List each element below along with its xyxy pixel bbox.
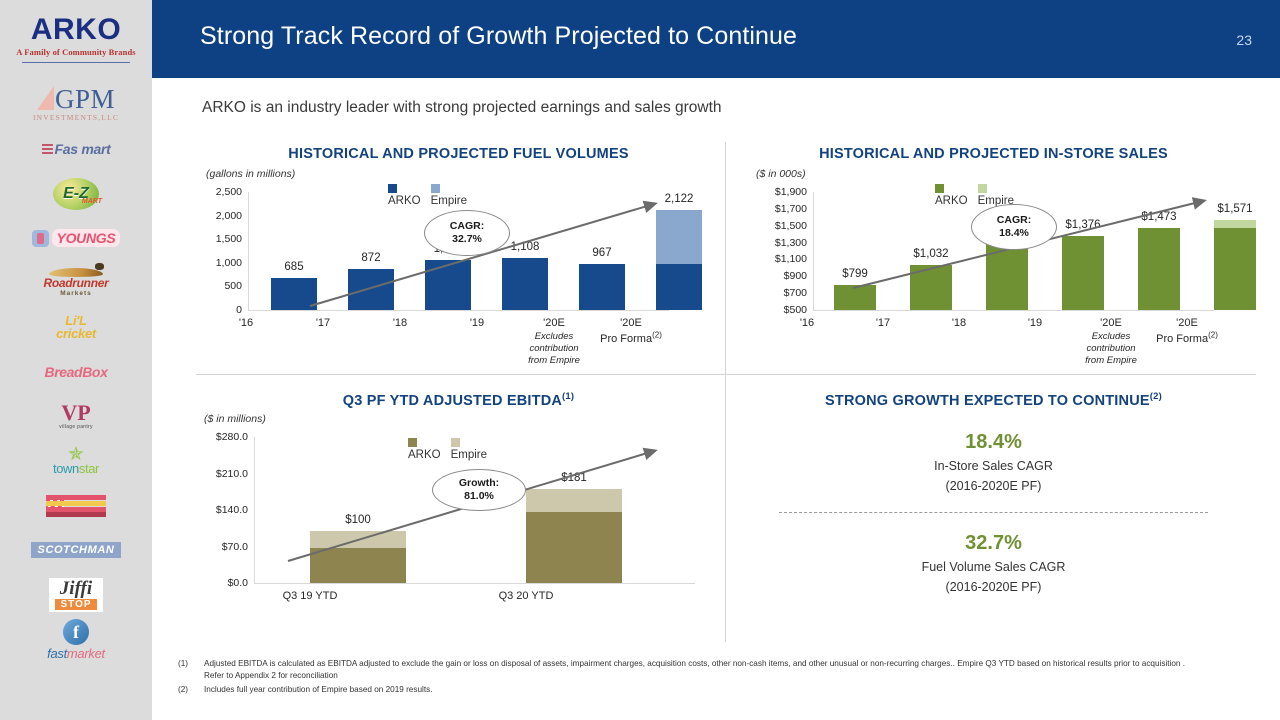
roadrunner-subtext: Markets — [60, 290, 92, 297]
annotation-bubble-fuel-volumes: CAGR:32.7% — [424, 210, 510, 256]
fast-market-wordmark: fast — [47, 646, 67, 661]
page-number: 23 — [1236, 32, 1252, 48]
x-axis-fuel-volumes — [248, 310, 669, 311]
brand-logo-breadbox: BreadBox — [0, 350, 152, 395]
ez-mart-subtext: MART — [82, 198, 102, 205]
chart-title-q3-ebitda-text: Q3 PF YTD ADJUSTED EBITDA — [343, 393, 562, 409]
roadrunner-bird-icon — [49, 268, 103, 277]
bar-value-label: 872 — [361, 252, 380, 264]
bar-fuel-volumes-2 — [425, 260, 471, 310]
annotation-line-1: CAGR: — [997, 214, 1031, 227]
bar-segment-arko — [348, 269, 394, 310]
bar-segment-arko — [425, 260, 471, 310]
growth-stat-period-1: (2016-2020E PF) — [731, 580, 1256, 594]
bar-q3-pf-ytd-adjusted-ebitda-0 — [310, 531, 406, 583]
footnote-number: (2) — [178, 684, 204, 696]
lil-cricket-subtext: cricket — [56, 327, 96, 340]
y-tick-label: 500 — [182, 280, 242, 292]
chart-title-q3-ebitda-sup: (1) — [562, 391, 574, 402]
growth-panel-title: STRONG GROWTH EXPECTED TO CONTINUE(2) — [731, 391, 1256, 409]
brand-logo-dixie-stores — [0, 483, 152, 528]
roadrunner-wordmark: Roadrunner — [43, 276, 108, 290]
fast-market-subtext: market — [67, 646, 105, 661]
brand-logo-gpm: GPM INVESTMENTS,LLC — [0, 82, 152, 127]
y-tick-label: 1,000 — [182, 257, 242, 269]
bar-value-label: $1,032 — [913, 248, 948, 260]
town-star-subtext: star — [79, 461, 99, 476]
annotation-line-1: CAGR: — [450, 220, 484, 233]
fast-market-f-icon: f — [63, 619, 89, 645]
footnote-row: (2) Includes full year contribution of E… — [178, 684, 1198, 696]
bar-segment-empire — [526, 489, 622, 512]
brand-logo-fas-mart: Fas mart — [0, 127, 152, 172]
bar-in-store-sales-3 — [1062, 236, 1104, 310]
plot-fuel-volumes: 2,5002,0001,5001,0005000685'16872'171,05… — [248, 192, 249, 310]
y-tick-label: $1,700 — [747, 203, 807, 215]
breadbox-wordmark: BreadBox — [45, 364, 108, 380]
growth-panel-title-sup: (2) — [1150, 391, 1162, 402]
legend-q3-pf-ytd-adjusted-ebitda: ARKOEmpire — [408, 437, 487, 461]
growth-stat-label-0: In-Store Sales CAGR — [731, 459, 1256, 473]
brand-logo-fast-market: f fastmarket — [0, 617, 152, 662]
bar-value-label: $1,376 — [1065, 219, 1100, 231]
y-tick-label: 2,500 — [182, 186, 242, 198]
jiffi-stop-subtext: STOP — [55, 599, 96, 610]
bar-value-label: $1,571 — [1217, 203, 1252, 215]
brand-logo-youngs: YOUNGS — [0, 216, 152, 261]
legend-in-store-sales: ARKOEmpire — [935, 183, 1014, 207]
annotation-line-2: 18.4% — [999, 227, 1029, 240]
village-pantry-subtext: village pantry — [59, 424, 93, 430]
bar-fuel-volumes-3 — [502, 258, 548, 310]
x-category-label: Q3 20 YTD — [478, 590, 574, 604]
page-title: Strong Track Record of Growth Projected … — [200, 22, 797, 51]
bar-segment-arko — [310, 548, 406, 583]
brand-logo-roadrunner-markets: Roadrunner Markets — [0, 260, 152, 305]
footnotes: (1) Adjusted EBITDA is calculated as EBI… — [178, 658, 1198, 696]
slide-subtitle: ARKO is an industry leader with strong p… — [202, 99, 722, 117]
chart-title-fuel-volumes: HISTORICAL AND PROJECTED FUEL VOLUMES — [196, 146, 721, 162]
bar-in-store-sales-4 — [1138, 228, 1180, 310]
annotation-bubble-q3-pf-ytd-adjusted-ebitda: Growth:81.0% — [432, 469, 526, 511]
y-tick-label: $0.0 — [188, 577, 248, 589]
arko-wordmark: ARKO — [31, 15, 121, 45]
legend-item-empire: Empire — [451, 437, 487, 461]
brand-logo-ez-mart: E-Z MART — [0, 171, 152, 216]
bar-segment-arko — [656, 264, 702, 310]
legend-item-arko: ARKO — [388, 183, 421, 207]
x-category-label: '20EPro Forma(2) — [1139, 317, 1235, 347]
legend-item-arko: ARKO — [408, 437, 441, 461]
axis-note-in-store-sales: ($ in 000s) — [756, 168, 806, 180]
axis-note-q3-ebitda: ($ in millions) — [204, 413, 266, 425]
gpm-subtext: INVESTMENTS,LLC — [33, 113, 119, 122]
chart-in-store-sales: HISTORICAL AND PROJECTED IN-STORE SALES … — [731, 146, 1256, 371]
y-tick-label: $1,100 — [747, 253, 807, 265]
ez-mart-globe-icon: E-Z MART — [53, 178, 99, 210]
growth-stat-value-0: 18.4% — [731, 431, 1256, 454]
bar-segment-arko — [579, 264, 625, 310]
y-tick-label: $1,300 — [747, 237, 807, 249]
growth-stat-period-0: (2016-2020E PF) — [731, 479, 1256, 493]
y-tick-label: $70.0 — [188, 541, 248, 553]
plot-q3-pf-ytd-adjusted-ebitda: $280.0$210.0$140.0$70.0$0.0$100Q3 19 YTD… — [254, 437, 255, 583]
fas-mart-wordmark: Fas mart — [55, 141, 111, 157]
y-tick-label: $1,500 — [747, 220, 807, 232]
y-tick-label: $500 — [747, 304, 807, 316]
dixie-flag-icon — [46, 495, 106, 517]
y-tick-label: 0 — [182, 304, 242, 316]
divider-horizontal — [196, 374, 1256, 375]
x-category-label: '20EPro Forma(2) — [583, 317, 679, 347]
arko-logo-rule — [22, 62, 130, 63]
axis-note-fuel-volumes: (gallons in millions) — [206, 168, 295, 180]
fas-mart-bars-icon — [42, 143, 53, 155]
footnote-row: (1) Adjusted EBITDA is calculated as EBI… — [178, 658, 1198, 682]
growth-panel-title-text: STRONG GROWTH EXPECTED TO CONTINUE — [825, 393, 1150, 409]
y-tick-label: $140.0 — [188, 504, 248, 516]
growth-stat-label-1: Fuel Volume Sales CAGR — [731, 560, 1256, 574]
growth-panel-divider — [779, 512, 1208, 513]
growth-panel: STRONG GROWTH EXPECTED TO CONTINUE(2) 18… — [731, 391, 1256, 621]
town-star-wordmark: town — [53, 461, 79, 476]
y-tick-label: $700 — [747, 287, 807, 299]
bar-fuel-volumes-1 — [348, 269, 394, 310]
growth-stat-value-1: 32.7% — [731, 532, 1256, 555]
village-pantry-mark: VP — [61, 403, 90, 423]
y-tick-label: $900 — [747, 270, 807, 282]
brand-sidebar: ARKO A Family of Community Brands GPM IN… — [0, 0, 152, 720]
bar-in-store-sales-5 — [1214, 220, 1256, 310]
trend-arrow-in-store-sales — [813, 192, 874, 320]
bar-segment-empire — [656, 210, 702, 265]
bar-segment-empire — [1214, 220, 1256, 228]
slide-header: Strong Track Record of Growth Projected … — [152, 0, 1280, 78]
brand-logo-jiffi-stop: Jiffi STOP — [0, 573, 152, 618]
divider-vertical — [725, 142, 726, 642]
arko-tagline: A Family of Community Brands — [16, 47, 135, 57]
chart-fuel-volumes: HISTORICAL AND PROJECTED FUEL VOLUMES (g… — [196, 146, 721, 371]
annotation-line-2: 81.0% — [464, 490, 494, 503]
annotation-line-2: 32.7% — [452, 233, 482, 246]
gpm-wordmark: GPM — [55, 88, 115, 111]
footnote-number: (1) — [178, 658, 204, 682]
bar-segment-arko — [502, 258, 548, 310]
trend-arrow-fuel-volumes — [248, 192, 309, 320]
bar-segment-arko — [1138, 228, 1180, 310]
footnote-text: Adjusted EBITDA is calculated as EBITDA … — [204, 658, 1198, 682]
legend-item-arko: ARKO — [935, 183, 968, 207]
arko-logo: ARKO A Family of Community Brands — [0, 0, 152, 78]
chart-title-in-store-sales: HISTORICAL AND PROJECTED IN-STORE SALES — [731, 146, 1256, 162]
trend-arrow-q3-pf-ytd-adjusted-ebitda — [254, 437, 315, 593]
bar-segment-arko — [1062, 236, 1104, 310]
brand-logo-town-star: ✯ townstar — [0, 439, 152, 484]
y-tick-label: 2,000 — [182, 210, 242, 222]
youngs-mark-icon — [32, 230, 49, 247]
bar-value-label: $100 — [345, 514, 371, 526]
annotation-bubble-in-store-sales: CAGR:18.4% — [971, 204, 1057, 250]
y-tick-label: $1,900 — [747, 186, 807, 198]
bar-q3-pf-ytd-adjusted-ebitda-1 — [526, 489, 622, 583]
brand-logo-list: GPM INVESTMENTS,LLC Fas mart E-Z MART YO… — [0, 82, 152, 662]
chart-q3-ebitda: Q3 PF YTD ADJUSTED EBITDA(1) ($ in milli… — [196, 391, 721, 621]
scotchman-wordmark: SCOTCHMAN — [31, 542, 122, 558]
bar-fuel-volumes-4 — [579, 264, 625, 310]
bar-value-label: 2,122 — [665, 193, 694, 205]
bar-value-label: 967 — [592, 247, 611, 259]
y-tick-label: $280.0 — [188, 431, 248, 443]
legend-item-empire: Empire — [431, 183, 467, 207]
jiffi-wordmark: Jiffi — [60, 580, 92, 597]
y-tick-label: $210.0 — [188, 468, 248, 480]
chart-title-q3-ebitda: Q3 PF YTD ADJUSTED EBITDA(1) — [196, 391, 721, 409]
brand-logo-lil-cricket: Li'L cricket — [0, 305, 152, 350]
gpm-triangle-icon — [37, 86, 54, 110]
town-star-star-icon: ✯ — [68, 447, 84, 462]
plot-in-store-sales: $1,900$1,700$1,500$1,300$1,100$900$700$5… — [813, 192, 814, 310]
brand-logo-village-pantry: VP village pantry — [0, 394, 152, 439]
legend-fuel-volumes: ARKOEmpire — [388, 183, 467, 207]
y-tick-label: 1,500 — [182, 233, 242, 245]
annotation-line-1: Growth: — [459, 477, 499, 490]
footnote-text: Includes full year contribution of Empir… — [204, 684, 1198, 696]
brand-logo-scotchman: SCOTCHMAN — [0, 528, 152, 573]
bar-segment-arko — [1214, 228, 1256, 310]
bar-fuel-volumes-5 — [656, 210, 702, 310]
x-axis-q3-pf-ytd-adjusted-ebitda — [254, 583, 695, 584]
bar-segment-arko — [526, 512, 622, 583]
youngs-wordmark: YOUNGS — [52, 229, 121, 247]
